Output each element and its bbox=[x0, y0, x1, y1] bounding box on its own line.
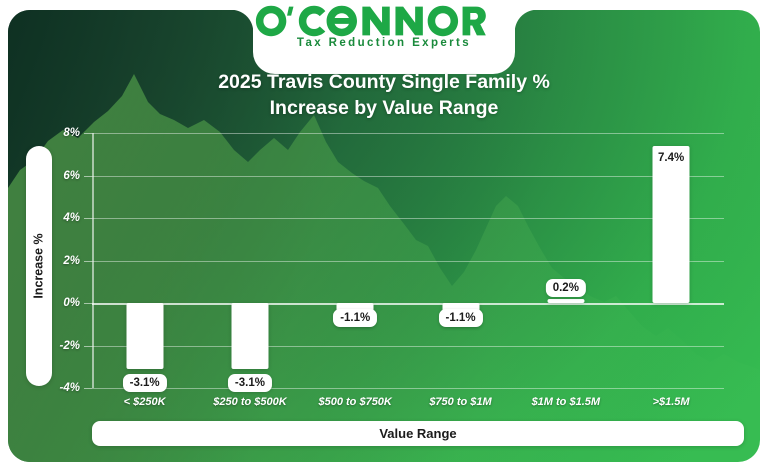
xtick-label-4: $1M to $1.5M bbox=[532, 396, 600, 408]
bar-label-5: 7.4% bbox=[658, 152, 684, 164]
bar-4[interactable] bbox=[547, 299, 584, 303]
bar-group-2: -1.1% bbox=[303, 133, 408, 388]
xtick-label-1: $250 to $500K bbox=[213, 396, 286, 408]
bar-group-0: -3.1% bbox=[92, 133, 197, 388]
bar-group-4: 0.2% bbox=[513, 133, 618, 388]
chart-title-line1: 2025 Travis County Single Family % bbox=[0, 70, 768, 96]
bar-group-5: 7.4% bbox=[619, 133, 724, 388]
bar-label-3: -1.1% bbox=[439, 309, 483, 327]
ytick-0 bbox=[84, 303, 92, 304]
bar-5[interactable] bbox=[653, 146, 690, 303]
y-axis-title: Increase % bbox=[26, 146, 52, 386]
brand-logo: Tax Reduction Experts bbox=[255, 4, 513, 49]
ytick-label-4: 4% bbox=[63, 212, 80, 224]
bar-label-2: -1.1% bbox=[333, 309, 377, 327]
bar-label-1: -3.1% bbox=[228, 374, 272, 392]
chart-screenshot: Tax Reduction Experts 2025 Travis County… bbox=[0, 0, 768, 472]
bar-group-3: -1.1% bbox=[408, 133, 513, 388]
bar-label-4: 0.2% bbox=[546, 279, 586, 297]
ytick-label-0: 0% bbox=[63, 297, 80, 309]
ytick-2 bbox=[84, 261, 92, 262]
bar-series: -3.1% -3.1% -1.1% -1.1% 0.2% 7.4% bbox=[92, 133, 724, 388]
chart-title: 2025 Travis County Single Family % Incre… bbox=[0, 70, 768, 122]
bar-1[interactable] bbox=[231, 303, 268, 369]
x-axis-title-text: Value Range bbox=[379, 426, 456, 441]
oconnor-wordmark-icon bbox=[255, 4, 486, 38]
xtick-label-5: >$1.5M bbox=[653, 396, 690, 408]
chart-title-line2: Increase by Value Range bbox=[0, 96, 768, 122]
bar-0[interactable] bbox=[126, 303, 163, 369]
ytick-neg4 bbox=[84, 388, 92, 389]
bar-group-1: -3.1% bbox=[197, 133, 302, 388]
xtick-label-3: $750 to $1M bbox=[429, 396, 491, 408]
x-axis-title: Value Range bbox=[92, 421, 744, 446]
xtick-label-0: < $250K bbox=[124, 396, 166, 408]
ytick-4 bbox=[84, 218, 92, 219]
bar-label-0: -3.1% bbox=[123, 374, 167, 392]
gridline-neg4 bbox=[92, 388, 724, 389]
ytick-label-6: 6% bbox=[63, 170, 80, 182]
plot-area: 8% 6% 4% 2% 0% -2% -4% -3.1% -3.1% bbox=[92, 133, 724, 388]
ytick-6 bbox=[84, 176, 92, 177]
ytick-label-8: 8% bbox=[63, 127, 80, 139]
brand-tagline: Tax Reduction Experts bbox=[255, 37, 513, 49]
x-axis-labels: < $250K $250 to $500K $500 to $750K $750… bbox=[92, 396, 724, 416]
xtick-label-2: $500 to $750K bbox=[318, 396, 391, 408]
y-axis-title-text: Increase % bbox=[32, 233, 46, 298]
ytick-label-neg2: -2% bbox=[60, 340, 80, 352]
ytick-8 bbox=[84, 133, 92, 134]
ytick-label-neg4: -4% bbox=[60, 382, 80, 394]
ytick-neg2 bbox=[84, 346, 92, 347]
ytick-label-2: 2% bbox=[63, 255, 80, 267]
